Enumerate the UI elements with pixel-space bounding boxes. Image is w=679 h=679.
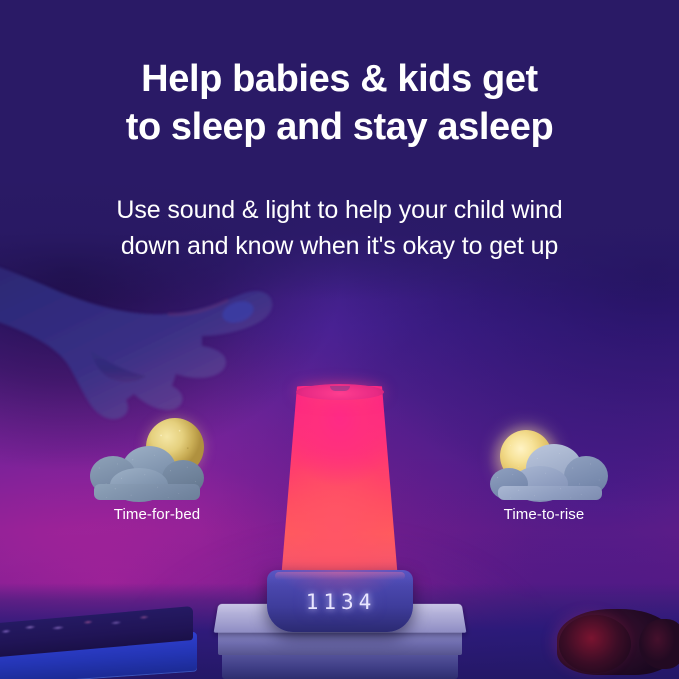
clock-digit-3: 3 xyxy=(341,590,356,614)
lamp-clock-display: 1 1 3 4 xyxy=(306,590,374,614)
decor-shape-front xyxy=(639,619,679,669)
feature-time-for-bed: Time-for-bed xyxy=(84,412,230,523)
lamp-top-button[interactable] xyxy=(330,386,350,391)
clock-digit-2: 1 xyxy=(323,590,338,614)
product-lifestyle-image: Help babies & kids get to sleep and stay… xyxy=(0,0,679,679)
subheadline: Use sound & light to help your child win… xyxy=(0,192,679,264)
clock-digit-1: 1 xyxy=(306,590,321,614)
cloud-base-slab xyxy=(498,486,602,500)
left-book-stack xyxy=(0,607,212,679)
clock-digit-4: 4 xyxy=(359,590,374,614)
headline-line-2: to sleep and stay asleep xyxy=(0,103,679,151)
subheadline-line-2: down and know when it's okay to get up xyxy=(0,228,679,264)
pedestal-book-bottom xyxy=(222,651,458,679)
decor-shape-mid xyxy=(559,615,631,673)
subheadline-line-1: Use sound & light to help your child win… xyxy=(0,192,679,228)
sun-behind-cloud-icon xyxy=(468,412,620,504)
pedestal-book-middle xyxy=(218,629,462,655)
dark-decor-object xyxy=(535,599,679,675)
lamp-dome[interactable] xyxy=(281,386,399,586)
headline: Help babies & kids get to sleep and stay… xyxy=(0,55,679,151)
cloud-base-slab xyxy=(94,484,200,500)
moon-behind-cloud-icon xyxy=(84,412,230,504)
feature-time-to-rise: Time-to-rise xyxy=(468,412,620,523)
feature-label-time-for-bed: Time-for-bed xyxy=(84,506,230,523)
lamp-base-highlight xyxy=(275,572,405,580)
headline-line-1: Help babies & kids get xyxy=(0,55,679,103)
book-cover-pattern xyxy=(0,613,161,649)
night-light-lamp[interactable]: 1 1 3 4 xyxy=(267,386,413,632)
lamp-base[interactable]: 1 1 3 4 xyxy=(267,570,413,632)
